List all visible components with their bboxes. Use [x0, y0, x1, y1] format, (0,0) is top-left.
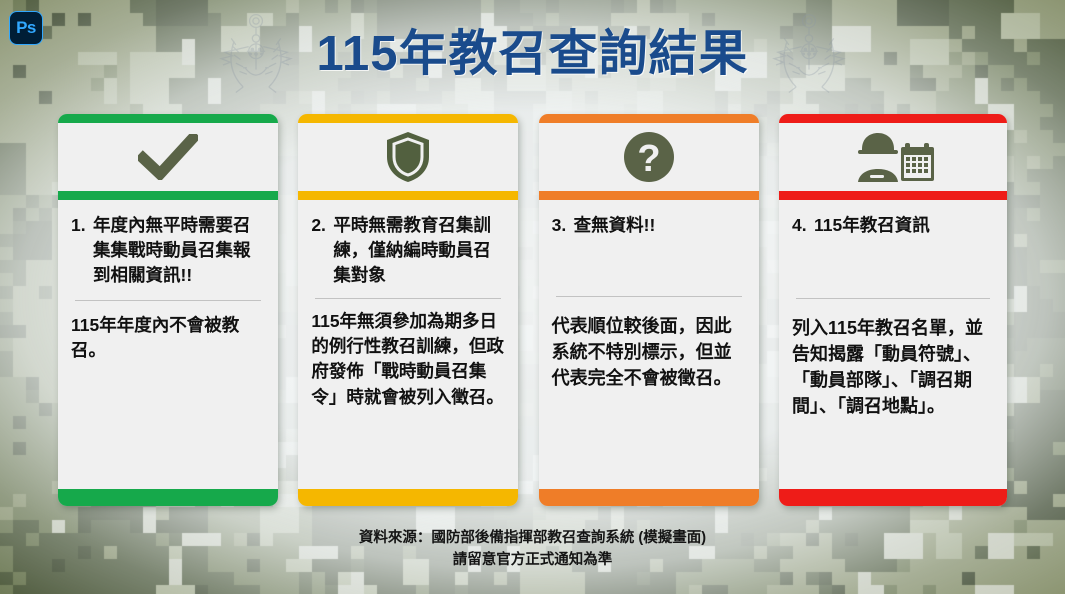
card-3-accent-bar-mid	[539, 191, 759, 200]
card-2-accent-bar-bottom	[298, 489, 518, 506]
card-2-heading: 平時無需教育召集訓練，僅納編時動員召集對象	[333, 215, 491, 285]
result-card-4[interactable]: 4. 115年教召資訊 列入115年教召名單，並告知揭露「動員符號」、「動員部隊…	[779, 114, 1007, 506]
header: 115年教召查詢結果	[0, 0, 1065, 108]
card-1-accent-bar-bottom	[58, 489, 278, 506]
card-3-spacer	[552, 391, 746, 481]
photoshop-icon[interactable]: Ps	[9, 11, 43, 45]
card-2-divider	[315, 298, 501, 299]
shield-icon	[385, 131, 431, 183]
card-1-accent-bar-mid	[58, 191, 278, 200]
result-card-2[interactable]: 2. 平時無需教育召集訓練，僅納編時動員召集對象 115年無須參加為期多日的例行…	[298, 114, 518, 506]
footer: 資料來源：國防部後備指揮部教召查詢系統 (模擬畫面) 請留意官方正式通知為準	[0, 528, 1065, 572]
card-4-heading: 115年教召資訊	[814, 215, 930, 235]
card-3-divider	[556, 296, 742, 297]
card-1-heading: 年度內無平時需要召集集戰時動員召集報到相關資訊!!	[93, 215, 251, 285]
card-3-number: 3.	[552, 213, 567, 238]
card-3-body: 3. 查無資料!! 代表順位較後面，因此系統不特別標示，但並代表完全不會被徵召。	[539, 200, 759, 489]
svg-text:?: ?	[637, 138, 660, 180]
checkmark-icon	[138, 134, 198, 180]
slide-canvas: Ps	[0, 0, 1065, 594]
photoshop-icon-label: Ps	[16, 18, 36, 38]
card-4-body: 4. 115年教召資訊 列入115年教召名單，並告知揭露「動員符號」、「動員部隊…	[779, 200, 1007, 489]
card-4-accent-bar-bottom	[779, 489, 1007, 506]
result-card-1[interactable]: 1. 年度內無平時需要召集集戰時動員召集報到相關資訊!! 115年年度內不會被教…	[58, 114, 278, 506]
card-4-divider	[796, 298, 990, 299]
card-4-accent-bar-top	[779, 114, 1007, 123]
card-3-accent-bar-bottom	[539, 489, 759, 506]
card-2-accent-bar-mid	[298, 191, 518, 200]
result-card-3[interactable]: ? 3. 查無資料!! 代表順位較後面，因此系統不特別標示，但並代表完全不會被徵…	[539, 114, 759, 506]
card-1-heading-row: 1. 年度內無平時需要召集集戰時動員召集報到相關資訊!!	[71, 213, 265, 288]
card-1-accent-bar-top	[58, 114, 278, 123]
card-3-accent-bar-top	[539, 114, 759, 123]
card-4-spacer	[792, 419, 994, 481]
card-3-icon-area: ?	[539, 123, 759, 191]
card-4-text: 列入115年教召名單，並告知揭露「動員符號」、「動員部隊」、「調召期間」、「調召…	[792, 315, 994, 419]
card-3-heading-row: 3. 查無資料!!	[552, 213, 746, 238]
card-3-heading: 查無資料!!	[574, 215, 656, 235]
card-2-number: 2.	[311, 213, 326, 238]
card-1-number: 1.	[71, 213, 86, 238]
card-2-body: 2. 平時無需教育召集訓練，僅納編時動員召集對象 115年無須參加為期多日的例行…	[298, 200, 518, 489]
card-1-text: 115年年度內不會被教召。	[71, 313, 265, 364]
footer-notice-line: 請留意官方正式通知為準	[0, 550, 1065, 572]
soldier-calendar-icon	[850, 131, 936, 183]
footer-source-line: 資料來源：國防部後備指揮部教召查詢系統 (模擬畫面)	[0, 528, 1065, 550]
card-1-icon-area	[58, 123, 278, 191]
card-1-spacer	[71, 363, 265, 481]
military-emblem-icon-right	[763, 10, 855, 98]
military-emblem-icon-left	[210, 10, 302, 98]
question-mark-circle-icon: ?	[623, 131, 675, 183]
result-cards: 1. 年度內無平時需要召集集戰時動員召集報到相關資訊!! 115年年度內不會被教…	[58, 114, 1007, 506]
card-2-text: 115年無須參加為期多日的例行性教召訓練，但政府發佈「戰時動員召集令」時就會被列…	[311, 309, 505, 411]
card-4-icon-area	[779, 123, 1007, 191]
card-2-accent-bar-top	[298, 114, 518, 123]
card-1-divider	[75, 300, 261, 301]
card-2-icon-area	[298, 123, 518, 191]
card-2-heading-row: 2. 平時無需教育召集訓練，僅納編時動員召集對象	[311, 213, 505, 288]
card-3-text: 代表順位較後面，因此系統不特別標示，但並代表完全不會被徵召。	[552, 313, 746, 391]
card-4-accent-bar-mid	[779, 191, 1007, 200]
page-title: 115年教召查詢結果	[316, 30, 748, 79]
card-4-heading-row: 4. 115年教召資訊	[792, 213, 994, 238]
card-1-body: 1. 年度內無平時需要召集集戰時動員召集報到相關資訊!! 115年年度內不會被教…	[58, 200, 278, 489]
card-2-spacer	[311, 410, 505, 481]
card-4-number: 4.	[792, 213, 807, 238]
